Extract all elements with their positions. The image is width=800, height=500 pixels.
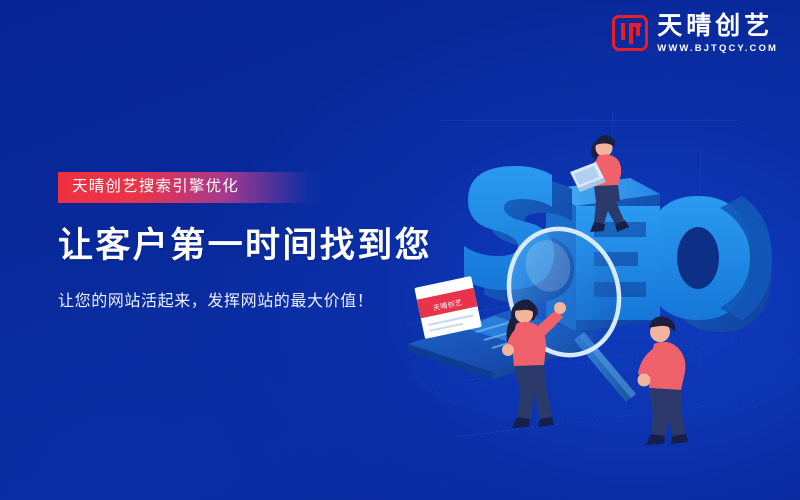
eyebrow-badge: 天晴创艺搜索引擎优化: [58, 172, 330, 203]
seo-illustration: 天晴创艺: [398, 96, 800, 426]
logo-website: WWW.BJTQCY.COM: [657, 43, 778, 54]
logo[interactable]: 天晴创艺 WWW.BJTQCY.COM: [612, 13, 778, 54]
tianqing-logo-mark-icon: [612, 15, 648, 51]
logo-text: 天晴创艺 WWW.BJTQCY.COM: [657, 13, 778, 54]
seo-promo-banner: 天晴创艺 WWW.BJTQCY.COM 天晴创艺搜索引擎优化 让客户第一时间找到…: [0, 0, 800, 500]
logo-company-name: 天晴创艺: [657, 13, 778, 40]
